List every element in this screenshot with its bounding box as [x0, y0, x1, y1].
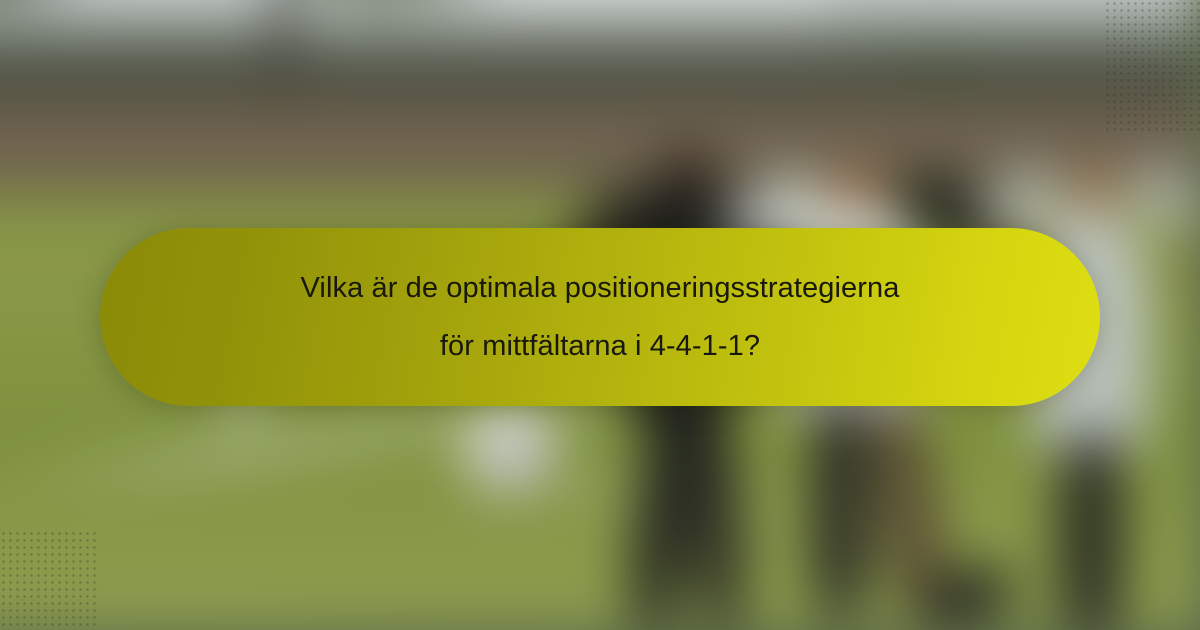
dot-grid-bottom-left [0, 530, 96, 630]
page-title: Vilka är de optimala positioneringsstrat… [170, 259, 1030, 375]
headline-pill: Vilka är de optimala positioneringsstrat… [100, 228, 1100, 406]
social-share-card: Vilka är de optimala positioneringsstrat… [0, 0, 1200, 630]
dot-grid-top-right [1104, 0, 1200, 132]
